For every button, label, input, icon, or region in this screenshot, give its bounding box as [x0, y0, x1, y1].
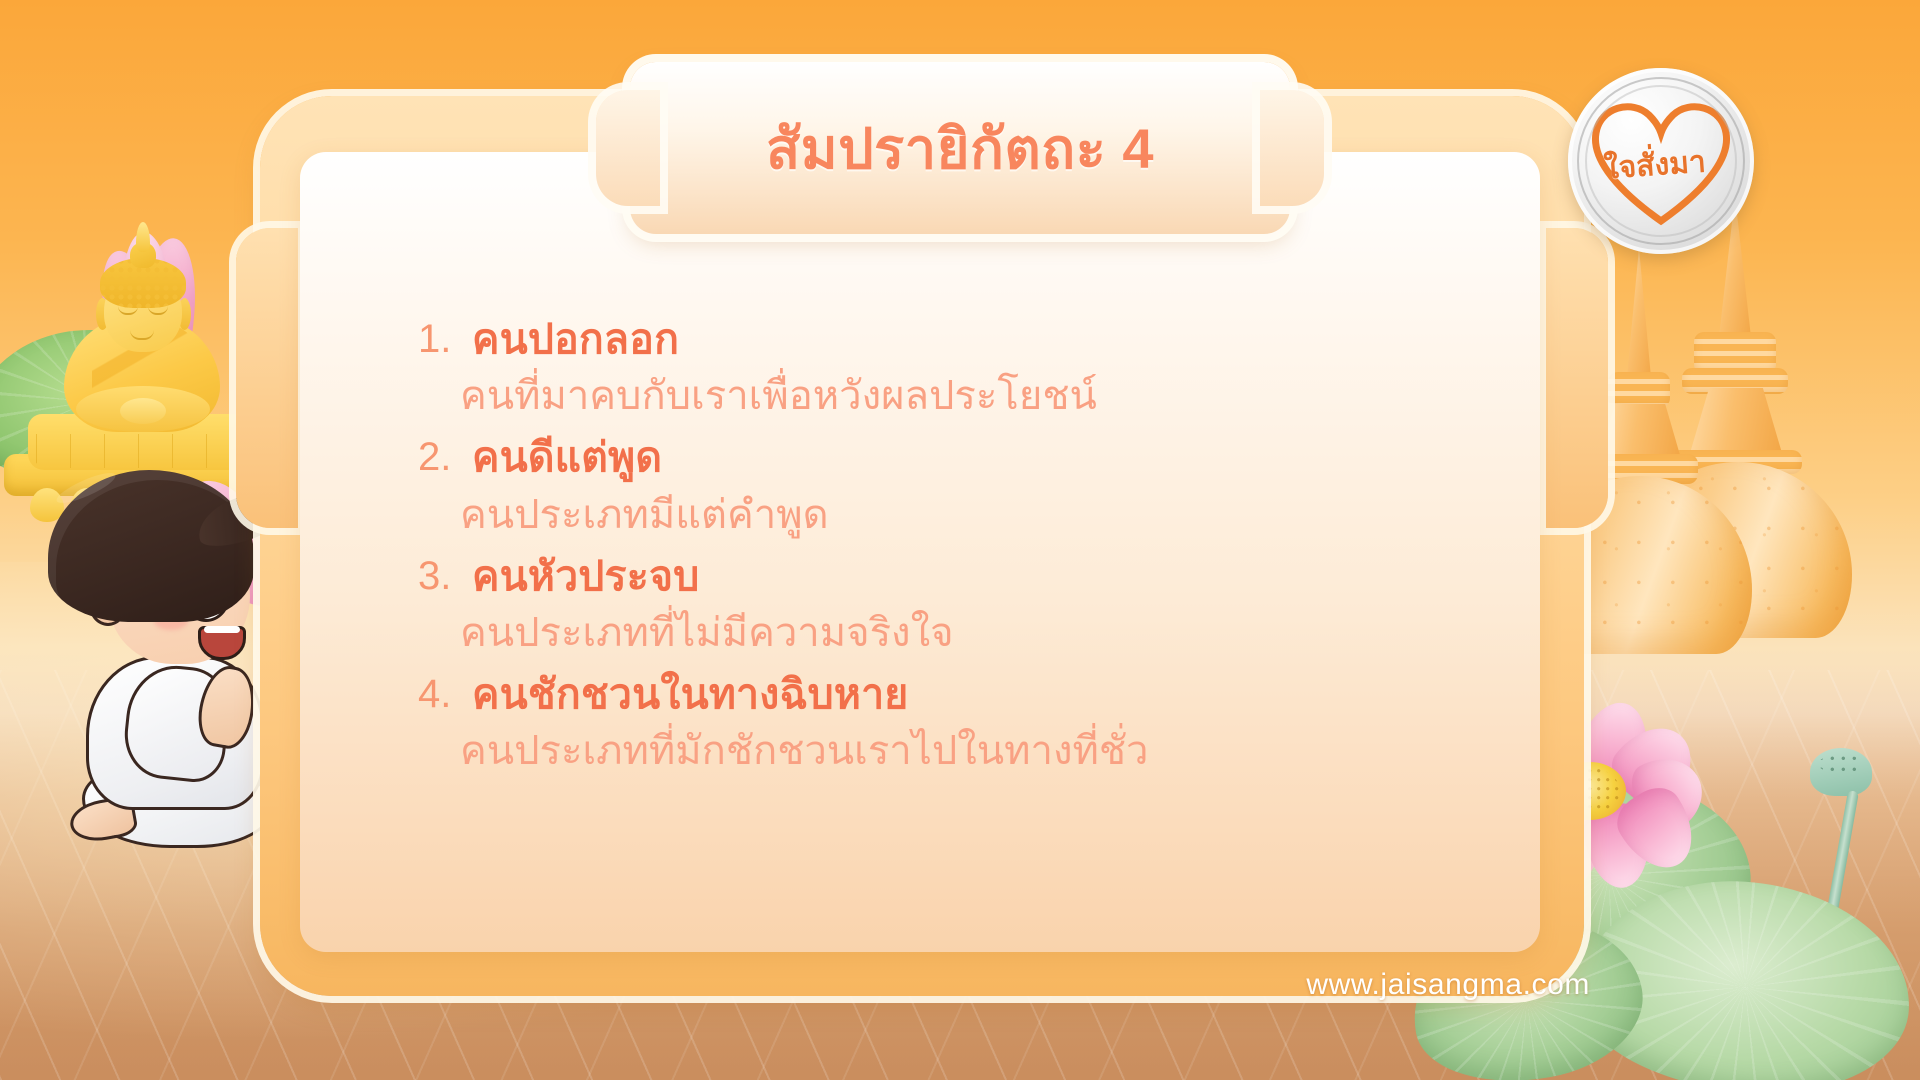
- slide-canvas: สัมปรายิกัตถะ 4 ใจสั่งมา 1. คนปอกลอก คนท…: [0, 0, 1920, 1080]
- title-plaque: สัมปรายิกัตถะ 4: [630, 62, 1290, 234]
- frame-notch-left: [236, 228, 298, 528]
- page-title: สัมปรายิกัตถะ 4: [630, 62, 1290, 234]
- list-item: 4. คนชักชวนในทางฉิบหาย: [418, 667, 1478, 722]
- list-item-heading: คนชักชวนในทางฉิบหาย: [472, 667, 1478, 722]
- list-item-heading: คนหัวประจบ: [472, 549, 1478, 604]
- list-item-description: คนประเภทที่ไม่มีความจริงใจ: [460, 606, 1478, 661]
- list-item-description: คนที่มาคบกับเราเพื่อหวังผลประโยชน์: [460, 369, 1478, 424]
- frame-notch-right: [1546, 228, 1608, 528]
- list-item-heading: คนดีแต่พูด: [472, 430, 1478, 485]
- list-item: 3. คนหัวประจบ: [418, 549, 1478, 604]
- lotus-seed-pod-icon: [1810, 748, 1872, 796]
- list-item-number: 1.: [418, 312, 472, 367]
- logo-badge[interactable]: ใจสั่งมา: [1568, 68, 1754, 254]
- list-item-description: คนประเภทมีแต่คำพูด: [460, 488, 1478, 543]
- list-item: 1. คนปอกลอก: [418, 312, 1478, 367]
- list-item-number: 4.: [418, 667, 472, 722]
- teaching-list: 1. คนปอกลอก คนที่มาคบกับเราเพื่อหวังผลปร…: [418, 312, 1478, 786]
- list-item: 2. คนดีแต่พูด: [418, 430, 1478, 485]
- website-url[interactable]: www.jaisangma.com: [1306, 968, 1590, 1002]
- list-item-description: คนประเภทที่มักชักชวนเราไปในทางที่ชั่ว: [460, 724, 1478, 779]
- logo-text: ใจสั่งมา: [1603, 138, 1708, 192]
- list-item-number: 2.: [418, 430, 472, 485]
- praying-boy-icon: [22, 470, 272, 860]
- list-item-heading: คนปอกลอก: [472, 312, 1478, 367]
- list-item-number: 3.: [418, 549, 472, 604]
